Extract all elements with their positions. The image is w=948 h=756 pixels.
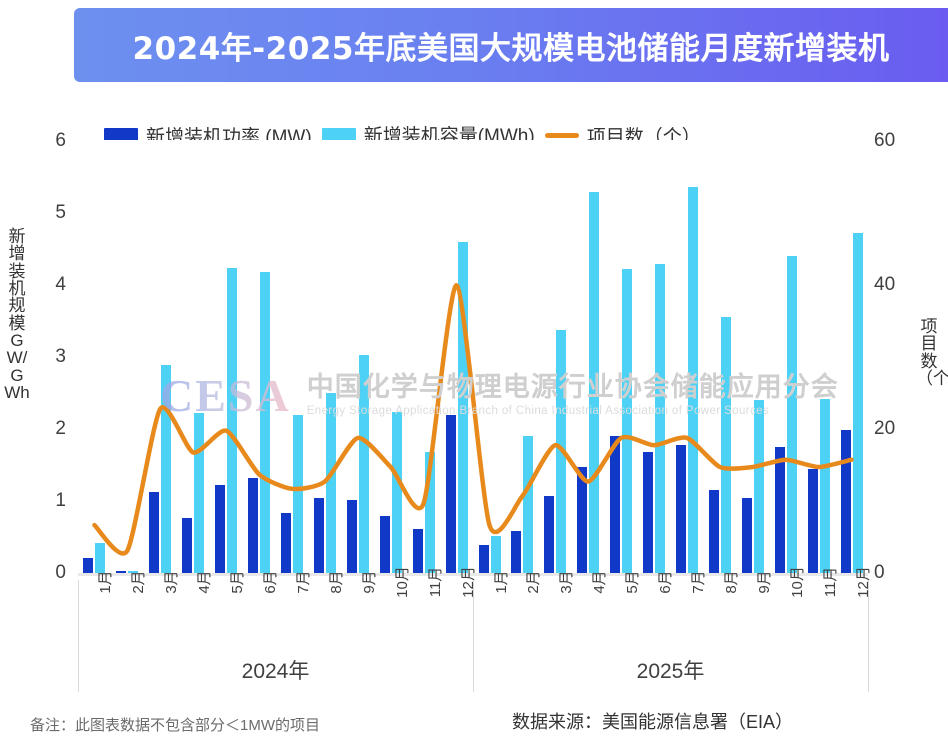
x-tick: 4月 (177, 580, 210, 642)
y-axis-right: 60 40 20 0 (874, 140, 908, 580)
x-tick: 3月 (144, 580, 177, 642)
chart-plot-area (78, 140, 868, 576)
y-tick-right: 0 (874, 562, 908, 584)
x-tick: 7月 (276, 580, 309, 642)
group-separator-right (868, 580, 869, 692)
x-tick: 12月 (835, 580, 868, 642)
x-tick: 3月 (539, 580, 572, 642)
page-title: 2024年-2025年底美国大规模电池储能月度新增装机 (133, 23, 890, 68)
x-tick: 7月 (671, 580, 704, 642)
x-tick: 2月 (111, 580, 144, 642)
line-series-projects (78, 140, 868, 576)
year-group-labels: 2024年 2025年 (78, 648, 868, 692)
x-tick: 6月 (243, 580, 276, 642)
y-tick-left: 1 (38, 490, 66, 512)
title-banner: 2024年-2025年底美国大规模电池储能月度新增装机 (74, 8, 948, 82)
y-tick-left: 0 (38, 562, 66, 584)
y-tick-left: 4 (38, 274, 66, 296)
x-tick: 4月 (572, 580, 605, 642)
x-tick-label: 12月 (852, 566, 873, 598)
x-tick: 9月 (341, 580, 374, 642)
y-tick-right: 20 (874, 418, 908, 440)
y-tick-left: 3 (38, 346, 66, 368)
year-group-2025: 2025年 (473, 648, 868, 692)
x-tick: 8月 (704, 580, 737, 642)
footer-note: 备注：此图表数据不包含部分＜1MW的项目 (30, 714, 320, 735)
footer-source: 数据来源：美国能源信息署（EIA） (512, 708, 793, 734)
x-tick: 2月 (506, 580, 539, 642)
x-tick: 11月 (407, 580, 440, 642)
y-tick-left: 5 (38, 202, 66, 224)
legend-swatch-projects (545, 133, 579, 138)
x-tick: 10月 (769, 580, 802, 642)
x-tick: 12月 (440, 580, 473, 642)
y-tick-right: 60 (874, 130, 908, 152)
x-tick: 10月 (374, 580, 407, 642)
y-tick-left: 2 (38, 418, 66, 440)
x-tick: 1月 (473, 580, 506, 642)
x-tick: 1月 (78, 580, 111, 642)
x-tick: 8月 (308, 580, 341, 642)
y-axis-right-title: 项目数（个） (916, 318, 942, 387)
y-axis-left: 6 5 4 3 2 1 0 (36, 140, 66, 580)
x-tick: 6月 (638, 580, 671, 642)
y-tick-left: 6 (38, 130, 66, 152)
x-tick: 5月 (210, 580, 243, 642)
projects-line-path (94, 285, 851, 553)
y-axis-left-title: 新增装机规模GW/GWh (4, 228, 30, 401)
x-tick: 5月 (605, 580, 638, 642)
x-tick: 9月 (736, 580, 769, 642)
year-group-2024: 2024年 (78, 648, 473, 692)
x-tick: 11月 (802, 580, 835, 642)
y-tick-right: 40 (874, 274, 908, 296)
